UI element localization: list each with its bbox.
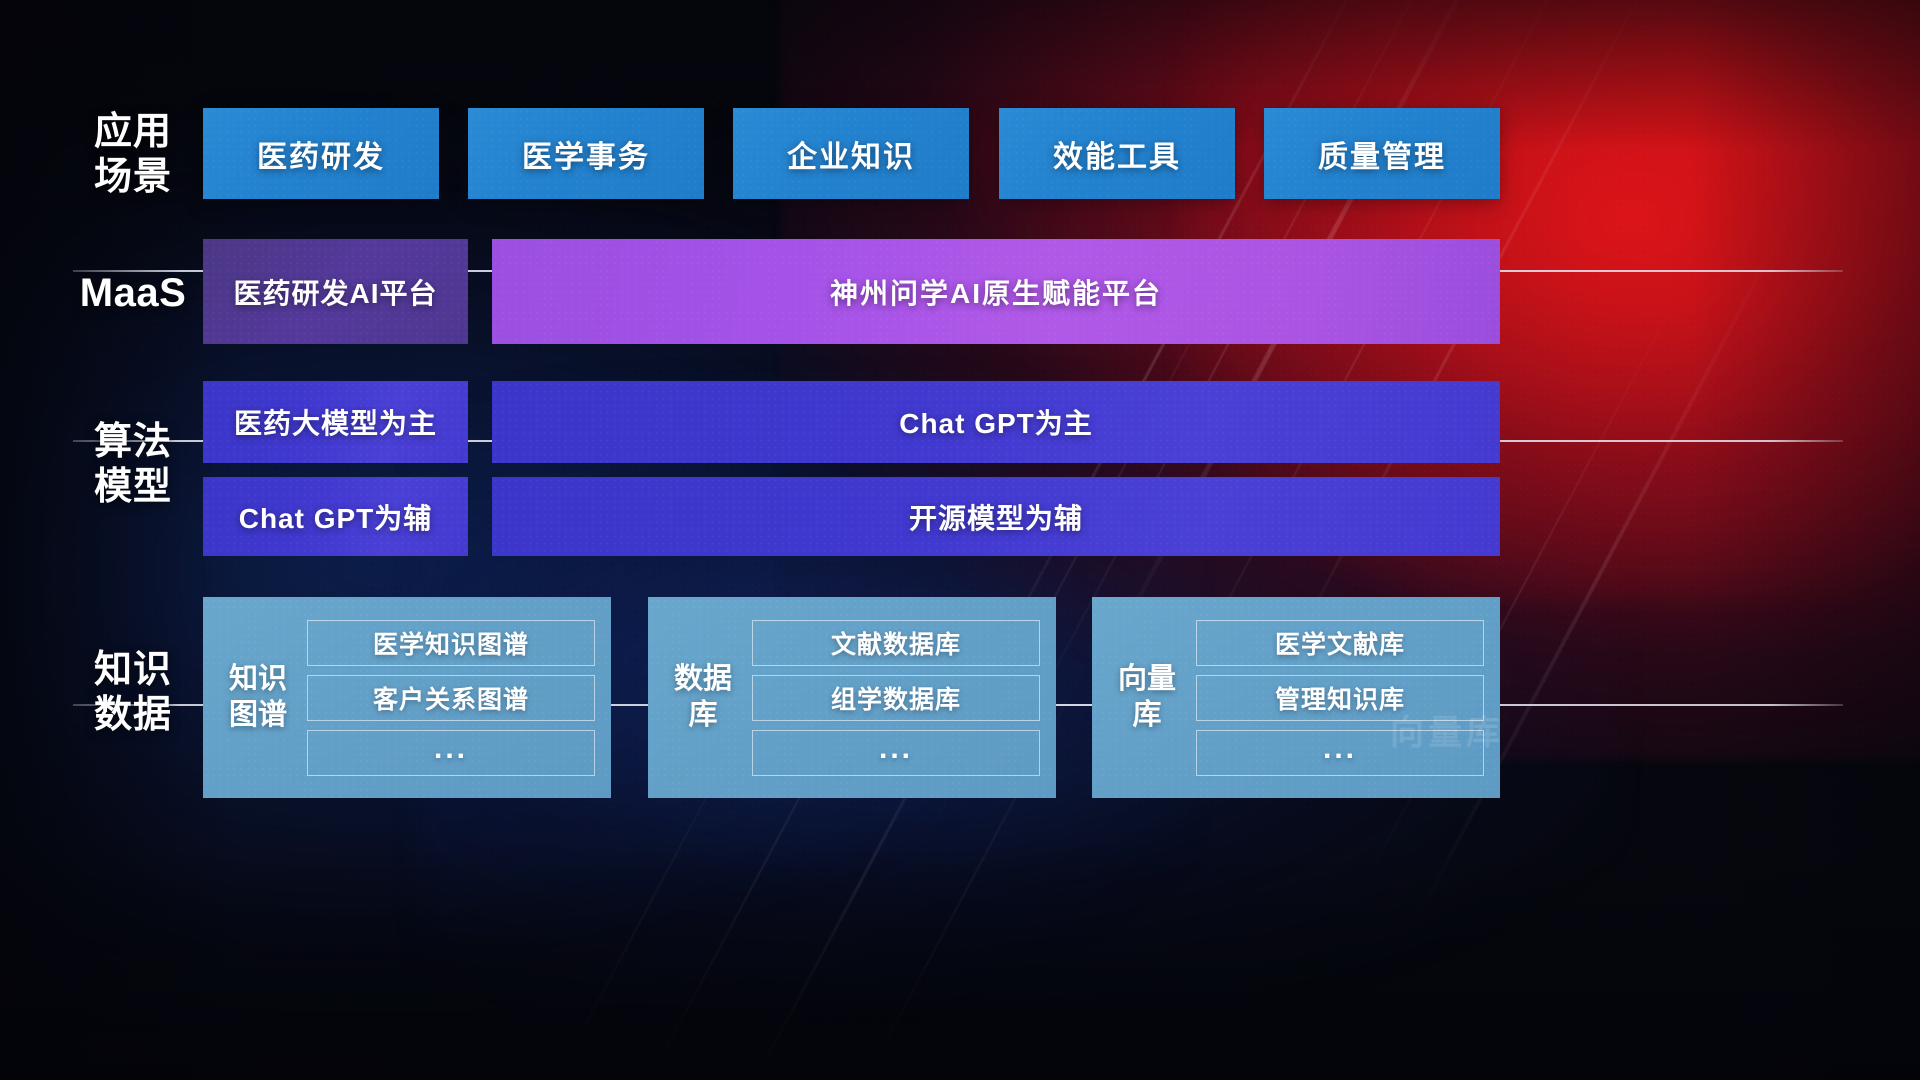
knowledge-group-vector-store-items: 医学文献库 管理知识库 ...	[1196, 620, 1484, 776]
knowledge-item[interactable]: 医学文献库	[1196, 620, 1484, 666]
algorithm-box-opensource-secondary-label: 开源模型为辅	[909, 497, 1083, 537]
row-label-knowledge-data: 知识 数据	[73, 648, 193, 738]
maas-box-pharma-platform-label: 医药研发AI平台	[233, 272, 437, 312]
knowledge-item[interactable]: 医学知识图谱	[307, 620, 595, 666]
scenario-box-5[interactable]: 质量管理	[1264, 108, 1500, 199]
scenario-box-3[interactable]: 企业知识	[733, 108, 969, 199]
knowledge-group-vector-store[interactable]: 向量库 医学文献库 管理知识库 ...	[1092, 597, 1500, 798]
scenario-box-5-label: 质量管理	[1318, 132, 1446, 176]
algorithm-box-pharma-llm-primary[interactable]: 医药大模型为主	[203, 381, 468, 463]
maas-box-shenzhou-platform-label: 神州问学AI原生赋能平台	[830, 272, 1162, 312]
knowledge-item-more[interactable]: ...	[752, 730, 1040, 776]
scenario-box-2-label: 医学事务	[522, 132, 650, 176]
knowledge-group-knowledge-graph[interactable]: 知识图谱 医学知识图谱 客户关系图谱 ...	[203, 597, 611, 798]
knowledge-item-more[interactable]: ...	[307, 730, 595, 776]
knowledge-group-database[interactable]: 数据库 文献数据库 组学数据库 ...	[648, 597, 1056, 798]
scenario-box-1-label: 医药研发	[257, 132, 385, 176]
knowledge-group-database-items: 文献数据库 组学数据库 ...	[752, 620, 1040, 776]
knowledge-item[interactable]: 组学数据库	[752, 675, 1040, 721]
architecture-diagram: 应用 场景 医药研发 医学事务 企业知识 效能工具 质量管理 MaaS 医药研发…	[0, 0, 1920, 1080]
algorithm-box-chatgpt-secondary[interactable]: Chat GPT为辅	[203, 477, 468, 556]
knowledge-group-knowledge-graph-label: 知识图谱	[227, 662, 289, 733]
knowledge-item[interactable]: 文献数据库	[752, 620, 1040, 666]
scenario-box-4-label: 效能工具	[1053, 132, 1181, 176]
algorithm-box-chatgpt-primary[interactable]: Chat GPT为主	[492, 381, 1500, 463]
scenario-box-4[interactable]: 效能工具	[999, 108, 1235, 199]
knowledge-group-database-label: 数据库	[672, 662, 734, 733]
algorithm-box-chatgpt-secondary-label: Chat GPT为辅	[239, 497, 433, 537]
algorithm-box-chatgpt-primary-label: Chat GPT为主	[899, 402, 1093, 442]
algorithm-box-pharma-llm-primary-label: 医药大模型为主	[234, 402, 437, 442]
row-label-maas: MaaS	[73, 270, 193, 317]
slide-canvas: 应用 场景 医药研发 医学事务 企业知识 效能工具 质量管理 MaaS 医药研发…	[0, 0, 1920, 1080]
algorithm-box-opensource-secondary[interactable]: 开源模型为辅	[492, 477, 1500, 556]
scenario-box-3-label: 企业知识	[787, 132, 915, 176]
row-label-application-scenarios: 应用 场景	[73, 110, 193, 200]
knowledge-group-vector-store-label: 向量库	[1116, 662, 1178, 733]
maas-box-shenzhou-platform[interactable]: 神州问学AI原生赋能平台	[492, 239, 1500, 344]
scenario-box-1[interactable]: 医药研发	[203, 108, 439, 199]
knowledge-item-more[interactable]: ...	[1196, 730, 1484, 776]
scenario-box-2[interactable]: 医学事务	[468, 108, 704, 199]
maas-box-pharma-platform[interactable]: 医药研发AI平台	[203, 239, 468, 344]
knowledge-item[interactable]: 客户关系图谱	[307, 675, 595, 721]
knowledge-item[interactable]: 管理知识库	[1196, 675, 1484, 721]
knowledge-group-knowledge-graph-items: 医学知识图谱 客户关系图谱 ...	[307, 620, 595, 776]
row-label-algorithm-model: 算法 模型	[73, 420, 193, 510]
